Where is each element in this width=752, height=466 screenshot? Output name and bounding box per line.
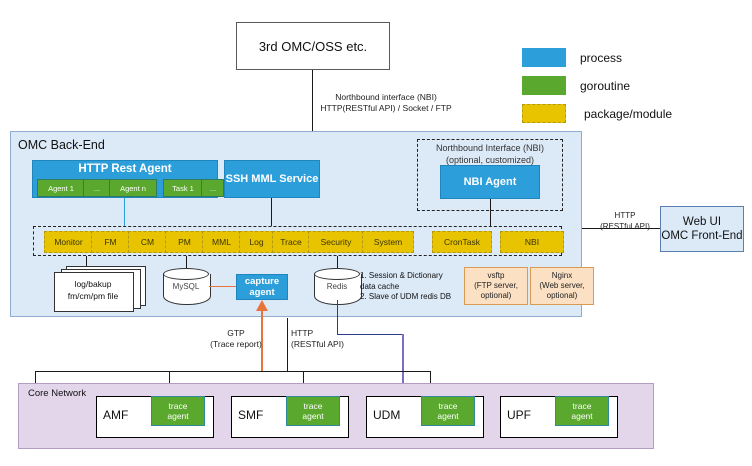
trace-agent-upf-line2: agent	[571, 411, 592, 421]
goroutine-agent-1[interactable]: Agent 1	[37, 179, 85, 197]
core-node-upf[interactable]: UPF trace agent	[500, 396, 618, 438]
module-monitor[interactable]: Monitor	[44, 231, 93, 253]
module-pm[interactable]: PM	[165, 231, 204, 253]
trace-agent-upf-line1: trace	[571, 401, 592, 411]
legend-label-package-module: package/module	[584, 107, 672, 121]
legend-swatch-package-module	[522, 104, 566, 123]
capture-agent-process[interactable]: capture agent	[236, 274, 288, 300]
goroutine-agent-ellipsis[interactable]: ...	[83, 179, 111, 197]
legend-swatch-process	[522, 48, 566, 67]
redis-cylinder-top	[314, 268, 360, 280]
gtp-label-line2: (Trace report)	[186, 339, 286, 350]
nbi-group-line1: Northbound Interface (NBI)	[417, 142, 563, 154]
core-node-smf-label: SMF	[238, 408, 263, 422]
redis-note-line3: 2. Slave of UDM redis DB	[360, 292, 480, 303]
connector-httprest-to-modules	[124, 198, 125, 226]
legend-swatch-goroutine	[522, 76, 566, 95]
module-nbi[interactable]: NBI	[500, 231, 564, 253]
http-label-line1: HTTP	[291, 328, 381, 339]
redis-note-line1: 1. Session & Dictionary	[360, 271, 480, 282]
connector-nbiagent-to-modules	[490, 199, 491, 226]
trace-agent-smf-line2: agent	[302, 411, 323, 421]
http-restful-line	[287, 318, 288, 372]
capture-agent-line2: agent	[245, 287, 279, 298]
goroutine-task-1[interactable]: Task 1	[163, 179, 203, 197]
webui-link-line2: (RESTful API)	[592, 221, 658, 232]
trace-agent-smf[interactable]: trace agent	[286, 396, 340, 426]
ssh-mml-service-process[interactable]: SSH MML Service	[224, 160, 320, 198]
module-mml[interactable]: MML	[202, 231, 241, 253]
core-node-upf-label: UPF	[507, 408, 531, 422]
trace-agent-amf[interactable]: trace agent	[151, 396, 205, 426]
nginx-optional-service[interactable]: Nginx (Web server, optional)	[530, 267, 594, 305]
gtp-arrowhead-icon	[256, 300, 268, 311]
trace-agent-upf[interactable]: trace agent	[555, 396, 609, 426]
mysql-database[interactable]: MySQL	[163, 268, 209, 308]
vsftp-line3: optional)	[474, 291, 518, 301]
nginx-line2: (Web server,	[539, 281, 584, 291]
trace-agent-udm-line2: agent	[437, 411, 458, 421]
web-ui-line2: OMC Front-End	[661, 229, 742, 243]
core-node-amf-label: AMF	[103, 408, 128, 422]
module-trace[interactable]: Trace	[272, 231, 310, 253]
legend-label-goroutine: goroutine	[580, 79, 630, 93]
module-security[interactable]: Security	[308, 231, 364, 253]
web-ui-line1: Web UI	[661, 215, 742, 229]
http-label: HTTP (RESTful API)	[291, 328, 381, 350]
nbi-optional-group-caption: Northbound Interface (NBI) (optional, cu…	[417, 142, 563, 166]
trace-agent-amf-line2: agent	[167, 411, 188, 421]
module-log[interactable]: Log	[239, 231, 274, 253]
mysql-label: MySQL	[163, 282, 209, 291]
capture-agent-line1: capture	[245, 276, 279, 287]
ssh-mml-service-label: SSH MML Service	[226, 173, 319, 185]
redis-label: Redis	[314, 282, 360, 291]
log-backup-file-stack: log/bakup fm/cm/pm file	[54, 266, 144, 310]
file-stack-text: log/bakup fm/cm/pm file	[54, 278, 132, 302]
http-rest-agent-process[interactable]: HTTP Rest Agent Agent 1 ... Agent n Task…	[32, 160, 218, 198]
trace-agent-udm-line1: trace	[437, 401, 458, 411]
nginx-line1: Nginx	[539, 271, 584, 281]
file-stack-line1: log/bakup	[54, 278, 132, 290]
nbi-agent-process[interactable]: NBI Agent	[440, 165, 540, 199]
connector-ssh-to-modules	[271, 198, 272, 226]
core-network-title: Core Network	[28, 388, 86, 399]
redis-note-line2: data cache	[360, 282, 480, 293]
goroutine-agent-n[interactable]: Agent n	[109, 179, 157, 197]
webui-link-line1: HTTP	[592, 210, 658, 221]
goroutine-task-ellipsis[interactable]: ...	[201, 179, 225, 197]
vsftp-optional-service[interactable]: vsftp (FTP server, optional)	[464, 267, 528, 305]
module-cm[interactable]: CM	[128, 231, 167, 253]
http-label-line2: (RESTful API)	[291, 339, 381, 350]
gtp-label-line1: GTP	[186, 328, 286, 339]
trace-agent-udm[interactable]: trace agent	[421, 396, 475, 426]
gtp-label: GTP (Trace report)	[186, 328, 286, 350]
file-stack-line2: fm/cm/pm file	[54, 290, 132, 302]
http-rest-agent-label: HTTP Rest Agent	[33, 163, 217, 175]
core-node-udm[interactable]: UDM trace agent	[366, 396, 484, 438]
redis-note: 1. Session & Dictionary data cache 2. Sl…	[360, 271, 480, 303]
http-bus-horizontal	[35, 371, 430, 372]
nbi-link-label-line1: Northbound interface (NBI)	[276, 92, 496, 103]
nbi-agent-label: NBI Agent	[464, 176, 517, 188]
third-party-omc-oss-label: 3rd OMC/OSS etc.	[259, 39, 367, 54]
vsftp-line1: vsftp	[474, 271, 518, 281]
trace-agent-amf-line1: trace	[167, 401, 188, 411]
mysql-cylinder-top	[163, 268, 209, 280]
webui-link-label: HTTP (RESTful API)	[592, 210, 658, 232]
module-system[interactable]: System	[362, 231, 414, 253]
omc-backend-title: OMC Back-End	[18, 138, 105, 152]
module-fm[interactable]: FM	[91, 231, 130, 253]
nginx-line3: optional)	[539, 291, 584, 301]
legend-label-process: process	[580, 51, 622, 65]
connector-mysql-to-capture-agent	[209, 286, 236, 287]
third-party-omc-oss-node[interactable]: 3rd OMC/OSS etc.	[236, 22, 390, 70]
nbi-link-label: Northbound interface (NBI) HTTP(RESTful …	[276, 92, 496, 114]
module-crontask[interactable]: CronTask	[432, 231, 492, 253]
nbi-link-label-line2: HTTP(RESTful API) / Socket / FTP	[276, 103, 496, 114]
web-ui-frontend-node[interactable]: Web UI OMC Front-End	[660, 206, 744, 252]
vsftp-line2: (FTP server,	[474, 281, 518, 291]
core-node-smf[interactable]: SMF trace agent	[231, 396, 349, 438]
legend: process goroutine package/module	[522, 44, 742, 120]
core-node-amf[interactable]: AMF trace agent	[96, 396, 214, 438]
trace-agent-smf-line1: trace	[302, 401, 323, 411]
core-node-udm-label: UDM	[373, 408, 400, 422]
